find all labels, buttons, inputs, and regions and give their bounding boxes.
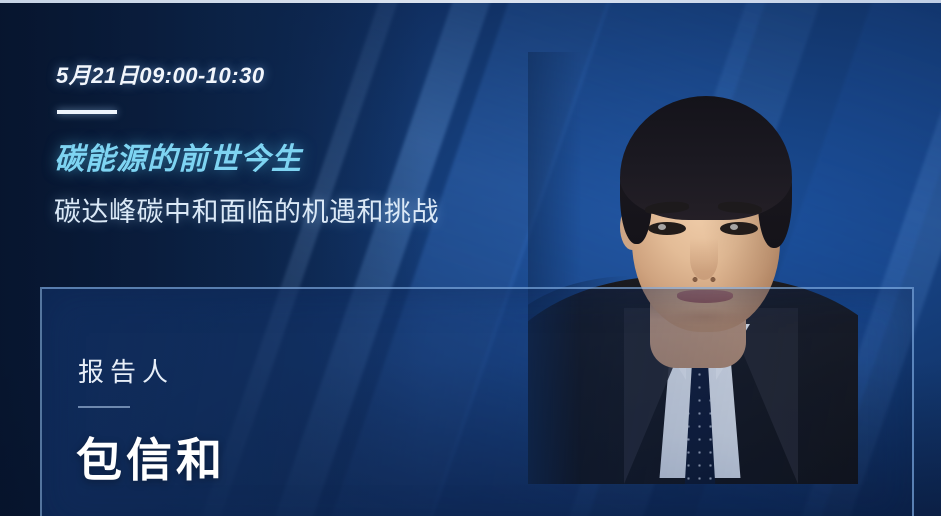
event-datetime: 5月21日09:00-10:30 xyxy=(56,58,265,90)
speaker-label: 报告人 xyxy=(78,352,174,389)
speaker-divider-rule xyxy=(78,406,130,408)
headline-divider-rule xyxy=(57,110,117,114)
seminar-poster: 5月21日09:00-10:30 碳能源的前世今生 碳达峰碳中和面临的机遇和挑战… xyxy=(0,0,941,516)
page-subtitle: 碳达峰碳中和面临的机遇和挑战 xyxy=(54,190,439,229)
top-hairline xyxy=(0,0,941,3)
page-title: 碳能源的前世今生 xyxy=(54,134,302,178)
speaker-name: 包信和 xyxy=(76,424,226,490)
